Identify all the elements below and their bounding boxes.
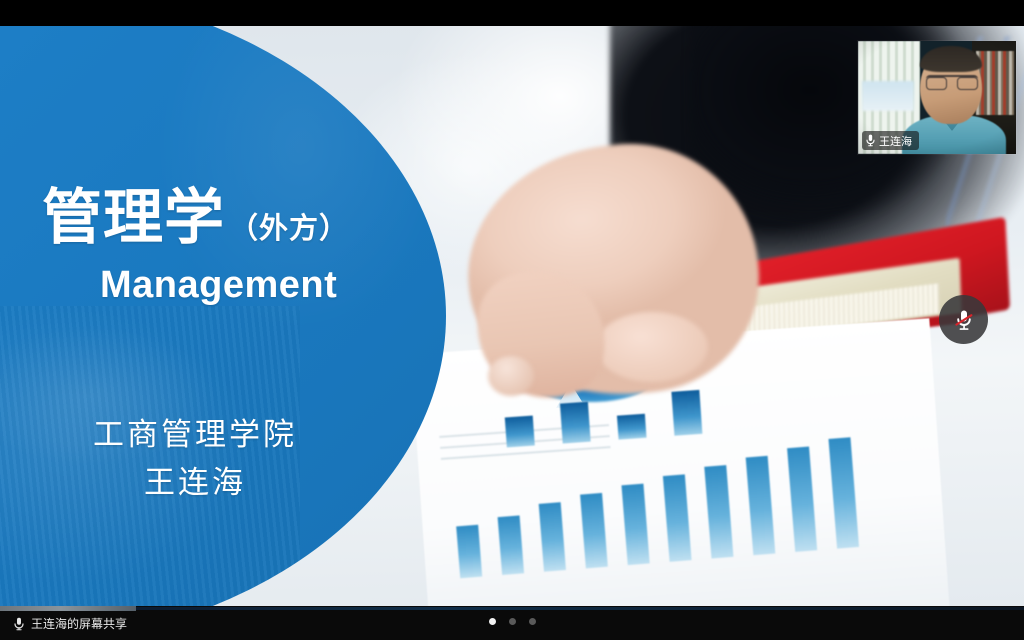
page-dot-1[interactable] [489, 618, 496, 625]
participant-name-label: 王连海 [879, 133, 912, 149]
page-indicator-dots[interactable] [0, 618, 1024, 625]
presenter-name: 王连海 [0, 460, 390, 507]
screen-share-view: 管理学 （外方） Management 工商管理学院 王连海 [0, 0, 1024, 640]
mute-toggle-button[interactable] [939, 295, 988, 344]
photo-hand-knuckle [596, 312, 708, 382]
course-title-main: 管理学 [42, 188, 225, 248]
page-dot-2[interactable] [509, 618, 516, 625]
microphone-muted-icon [953, 308, 975, 332]
status-bar: 王连海的屏幕共享 [0, 606, 1024, 640]
course-title-english: Management [100, 264, 337, 307]
page-title: 管理学 （外方） [42, 188, 349, 248]
page-dot-3[interactable] [529, 618, 536, 625]
status-bar-accent [0, 606, 136, 611]
status-bar-accent-secondary [136, 607, 1024, 610]
participant-name-badge: 王连海 [862, 131, 919, 150]
course-title-qualifier: （外方） [229, 205, 349, 247]
school-name: 工商管理学院 [0, 412, 390, 459]
letterbox-top [0, 0, 1024, 26]
slide-title-block: 管理学 （外方） Management 工商管理学院 王连海 [0, 26, 450, 606]
self-view-video-tile[interactable]: 王连海 [858, 41, 1016, 154]
photo-fingertip [488, 356, 534, 396]
microphone-icon [866, 134, 875, 147]
